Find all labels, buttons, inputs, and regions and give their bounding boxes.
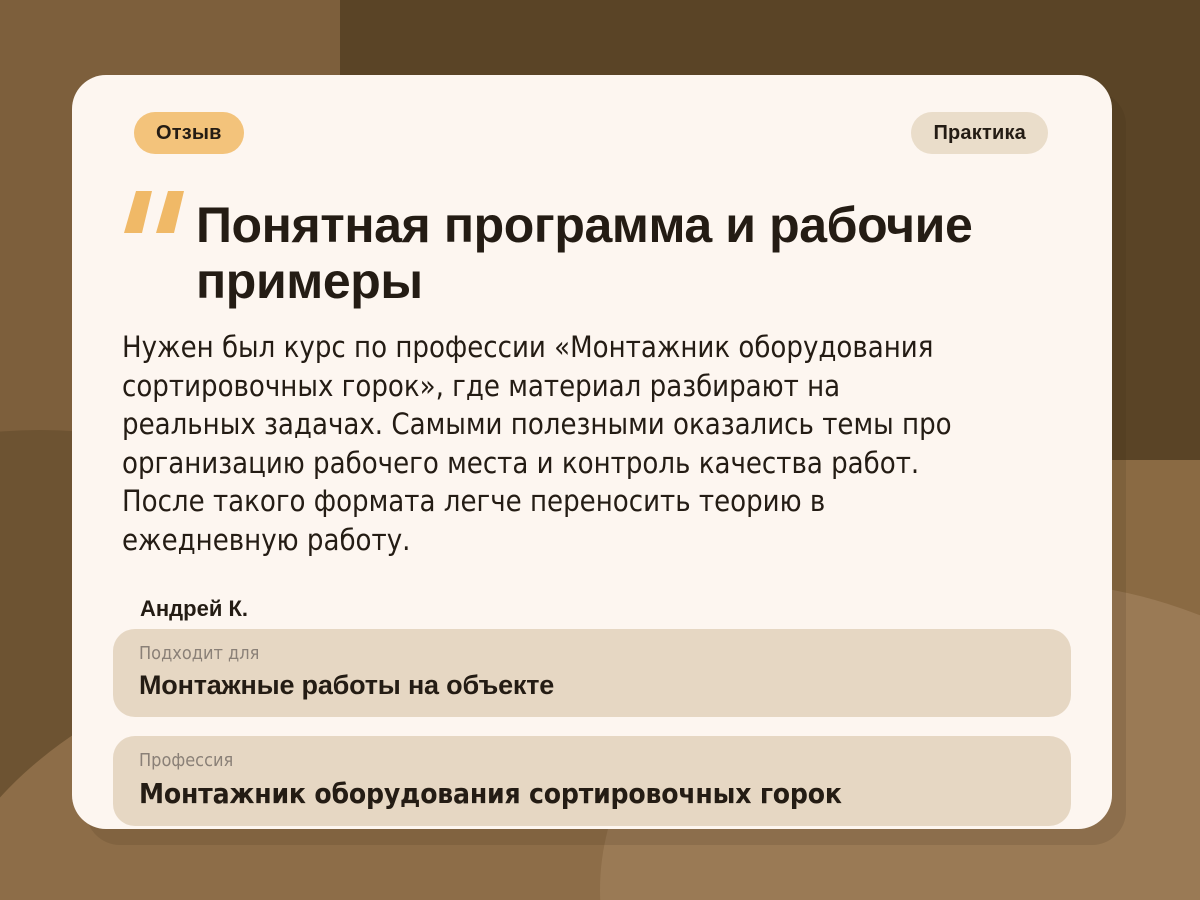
meta-card-profession: Профессия Монтажник оборудования сортиро… [113, 736, 1071, 826]
meta-value: Монтажные работы на объекте [139, 670, 1045, 701]
badge-kind[interactable]: Отзыв [134, 112, 244, 154]
badge-format[interactable]: Практика [911, 112, 1048, 154]
testimonial-card: Отзыв Практика Понятная программа и рабо… [72, 75, 1112, 829]
meta-value: Монтажник оборудования сортировочных гор… [139, 777, 1045, 810]
meta-card-suitable-for: Подходит для Монтажные работы на объекте [113, 629, 1071, 717]
meta-label: Подходит для [139, 643, 1045, 664]
headline-block: Понятная программа и рабочие примеры [122, 197, 1054, 309]
quote-open-icon [122, 189, 188, 245]
meta-label: Профессия [139, 750, 1045, 771]
badge-row: Отзыв Практика [72, 112, 1112, 156]
page-title: Понятная программа и рабочие примеры [122, 197, 1054, 309]
author-name: Андрей К. [140, 596, 248, 622]
slide-canvas: Отзыв Практика Понятная программа и рабо… [0, 0, 1200, 900]
testimonial-body: Нужен был курс по профессии «Монтажник о… [122, 328, 952, 559]
